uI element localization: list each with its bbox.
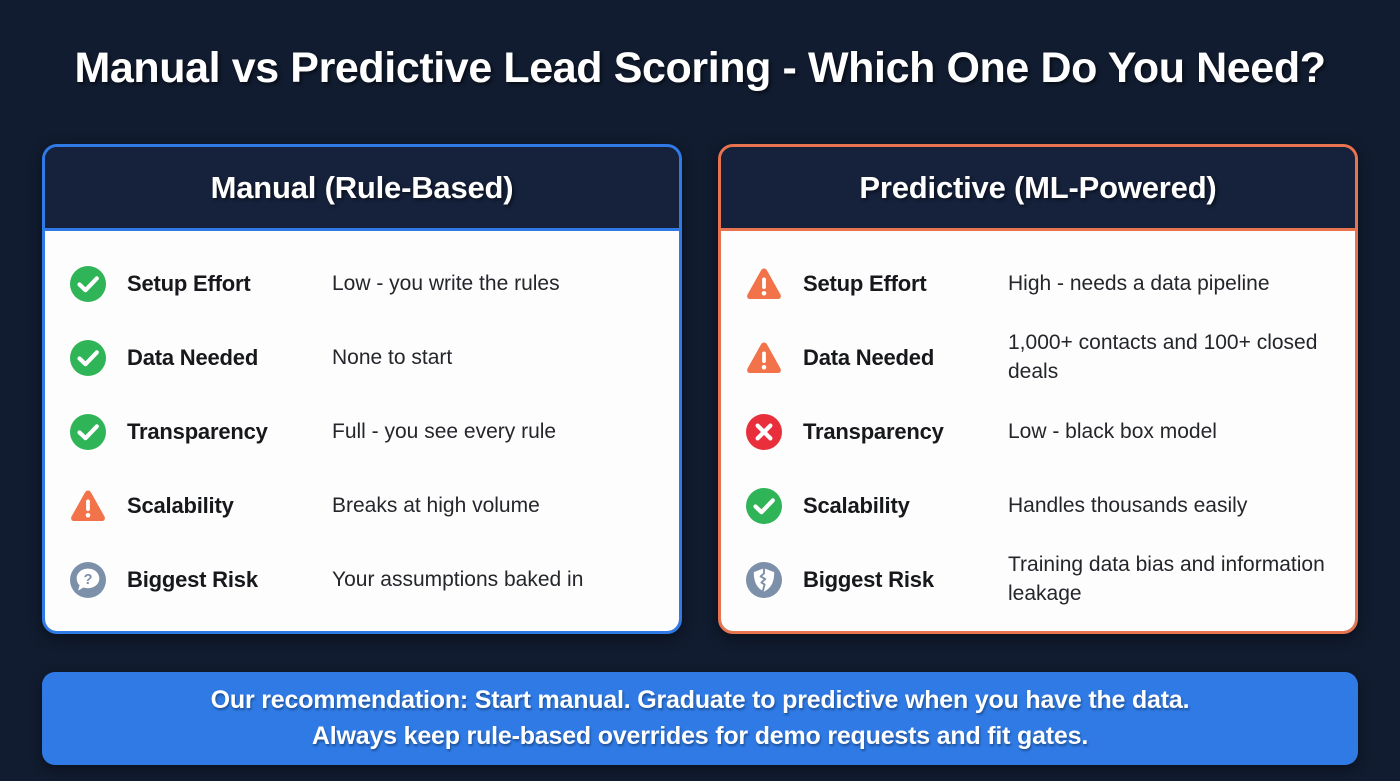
row-label: Scalability: [127, 493, 332, 519]
row-value: Low - black box model: [1008, 418, 1333, 447]
warning-triangle-icon: [743, 337, 785, 379]
row-value: Your assumptions baked in: [332, 566, 657, 595]
recommendation-banner: Our recommendation: Start manual. Gradua…: [42, 672, 1358, 765]
row-value: Full - you see every rule: [332, 418, 657, 447]
check-circle-icon: [67, 337, 109, 379]
card-predictive-header: Predictive (ML-Powered): [721, 147, 1355, 231]
table-row: ? Biggest Risk Your assumptions baked in: [67, 549, 657, 611]
card-manual-title: Manual (Rule-Based): [211, 170, 514, 206]
shield-circle-icon: [743, 559, 785, 601]
table-row: Setup Effort Low - you write the rules: [67, 253, 657, 315]
table-row: Setup Effort High - needs a data pipelin…: [743, 253, 1333, 315]
table-row: Scalability Handles thousands easily: [743, 475, 1333, 537]
row-value: None to start: [332, 344, 657, 373]
row-value: Low - you write the rules: [332, 270, 657, 299]
table-row: Transparency Low - black box model: [743, 401, 1333, 463]
row-label: Transparency: [803, 419, 1008, 445]
row-value: Breaks at high volume: [332, 492, 657, 521]
row-label: Data Needed: [803, 345, 1008, 371]
check-circle-icon: [67, 411, 109, 453]
row-label: Biggest Risk: [127, 567, 332, 593]
card-manual: Manual (Rule-Based) Setup Effort Low - y…: [42, 144, 682, 634]
row-value: Handles thousands easily: [1008, 492, 1333, 521]
row-value: Training data bias and information leaka…: [1008, 551, 1333, 609]
card-predictive-title: Predictive (ML-Powered): [859, 170, 1216, 206]
table-row: Data Needed None to start: [67, 327, 657, 389]
svg-text:?: ?: [84, 572, 93, 588]
row-label: Setup Effort: [803, 271, 1008, 297]
recommendation-line-1: Our recommendation: Start manual. Gradua…: [211, 683, 1190, 719]
recommendation-line-2: Always keep rule-based overrides for dem…: [312, 719, 1088, 755]
row-label: Setup Effort: [127, 271, 332, 297]
question-bubble-circle-icon: ?: [67, 559, 109, 601]
warning-triangle-icon: [67, 485, 109, 527]
check-circle-icon: [743, 485, 785, 527]
check-circle-icon: [67, 263, 109, 305]
row-value: 1,000+ contacts and 100+ closed deals: [1008, 329, 1333, 387]
row-value: High - needs a data pipeline: [1008, 270, 1333, 299]
page-title: Manual vs Predictive Lead Scoring - Whic…: [0, 44, 1400, 93]
card-predictive: Predictive (ML-Powered) Setup Effort Hig…: [718, 144, 1358, 634]
error-circle-icon: [743, 411, 785, 453]
row-label: Scalability: [803, 493, 1008, 519]
comparison-cards: Manual (Rule-Based) Setup Effort Low - y…: [42, 144, 1358, 634]
table-row: Biggest Risk Training data bias and info…: [743, 549, 1333, 611]
row-label: Transparency: [127, 419, 332, 445]
table-row: Transparency Full - you see every rule: [67, 401, 657, 463]
card-manual-header: Manual (Rule-Based): [45, 147, 679, 231]
warning-triangle-icon: [743, 263, 785, 305]
row-label: Biggest Risk: [803, 567, 1008, 593]
card-manual-body: Setup Effort Low - you write the rules D…: [45, 231, 679, 631]
card-predictive-body: Setup Effort High - needs a data pipelin…: [721, 231, 1355, 631]
row-label: Data Needed: [127, 345, 332, 371]
table-row: Scalability Breaks at high volume: [67, 475, 657, 537]
table-row: Data Needed 1,000+ contacts and 100+ clo…: [743, 327, 1333, 389]
